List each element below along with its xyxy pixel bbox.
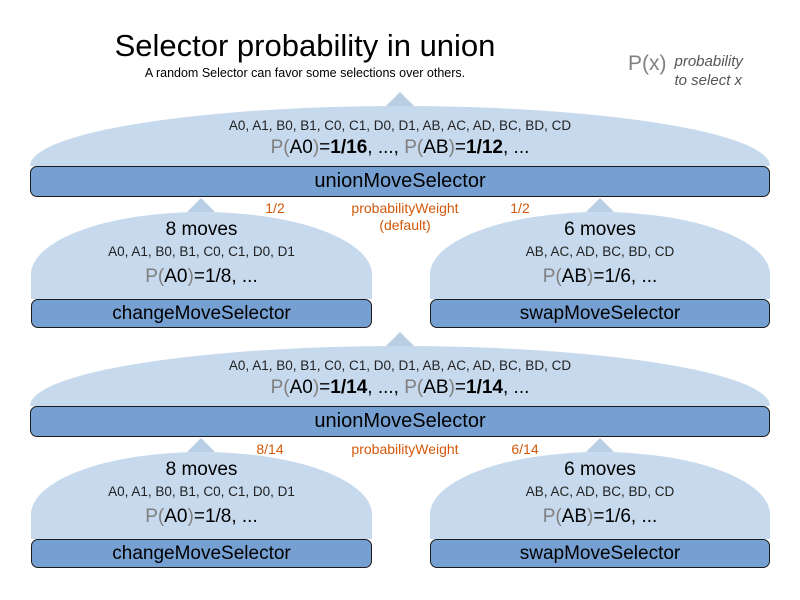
union-prob-sep-2: , ..., [367, 377, 404, 398]
swap-moves-count-2: 6 moves [430, 459, 770, 480]
change-moves-count-2: 8 moves [31, 459, 372, 480]
arrow-left-child-1 [187, 198, 215, 212]
legend-description-line1: probability [675, 52, 743, 71]
change-prob-value-2: 1/8, ... [205, 506, 258, 527]
legend-description-line2: to select x [675, 71, 743, 90]
prob-fn-open: P( [271, 377, 290, 398]
swap-prob-label-2: AB [562, 506, 587, 527]
change-probability-1: P(A0)=1/8, ... [31, 266, 372, 288]
swap-move-list-2: AB, AC, AD, BC, BD, CD [430, 484, 770, 500]
arrow-right-child-2 [586, 438, 614, 452]
swap-prob-label-1: AB [562, 266, 587, 287]
swap-move-list-1: AB, AC, AD, BC, BD, CD [430, 244, 770, 260]
header: Selector probability in union A random S… [0, 0, 800, 100]
union-prob-label-2b: AB [423, 377, 448, 398]
swap-selector-dome-2: 6 moves AB, AC, AD, BC, BD, CD P(AB)=1/6… [430, 452, 770, 539]
prob-fn-open: P( [543, 506, 562, 527]
arrow-right-child-1 [586, 198, 614, 212]
swap-moves-count-1: 6 moves [430, 219, 770, 240]
union-probability-2: P(A0)=1/14, ..., P(AB)=1/14, ... [30, 377, 770, 399]
swap-probability-1: P(AB)=1/6, ... [430, 266, 770, 288]
union-prob-eq-1a: = [319, 137, 330, 158]
legend: P(x) probability to select x [628, 52, 800, 90]
prob-fn-open: P( [145, 266, 164, 287]
page-subtitle: A random Selector can favor some selecti… [0, 66, 610, 81]
change-moves-count-1: 8 moves [31, 219, 372, 240]
prob-fn-open: P( [543, 266, 562, 287]
swap-prob-eq-1: = [593, 266, 604, 287]
union-move-list-2: A0, A1, B0, B1, C0, C1, D0, D1, AB, AC, … [30, 358, 770, 374]
swap-probability-2: P(AB)=1/6, ... [430, 506, 770, 528]
union-prob-value-1b: 1/12 [466, 137, 503, 158]
prob-fn-open: P( [404, 377, 423, 398]
union-prob-eq-1b: = [455, 137, 466, 158]
change-prob-eq-2: = [194, 506, 205, 527]
change-probability-2: P(A0)=1/8, ... [31, 506, 372, 528]
change-prob-label-1: A0 [164, 266, 187, 287]
change-prob-label-2: A0 [164, 506, 187, 527]
union-prob-suffix-1: , ... [503, 137, 529, 158]
union-prob-eq-2b: = [455, 377, 466, 398]
change-selector-dome-2: 8 moves A0, A1, B0, B1, C0, C1, D0, D1 P… [31, 452, 372, 539]
change-move-selector-bar-1[interactable]: changeMoveSelector [31, 299, 372, 328]
legend-symbol: P(x) [628, 52, 667, 75]
union-prob-suffix-2: , ... [503, 377, 529, 398]
swap-selector-dome-1: 6 moves AB, AC, AD, BC, BD, CD P(AB)=1/6… [430, 212, 770, 299]
prob-fn-open: P( [404, 137, 423, 158]
page-title: Selector probability in union [0, 28, 610, 64]
arrow-left-child-2 [187, 438, 215, 452]
union-dome-2: A0, A1, B0, B1, C0, C1, D0, D1, AB, AC, … [30, 346, 770, 406]
union-prob-value-2a: 1/14 [330, 377, 367, 398]
union-probability-1: P(A0)=1/16, ..., P(AB)=1/12, ... [30, 137, 770, 159]
union-move-list-1: A0, A1, B0, B1, C0, C1, D0, D1, AB, AC, … [30, 118, 770, 134]
union-prob-value-2b: 1/14 [466, 377, 503, 398]
change-selector-dome-1: 8 moves A0, A1, B0, B1, C0, C1, D0, D1 P… [31, 212, 372, 299]
legend-description: probability to select x [675, 52, 743, 90]
change-prob-value-1: 1/8, ... [205, 266, 258, 287]
swap-prob-eq-2: = [593, 506, 604, 527]
change-move-selector-bar-2[interactable]: changeMoveSelector [31, 539, 372, 568]
change-move-list-1: A0, A1, B0, B1, C0, C1, D0, D1 [31, 244, 372, 260]
union-prob-value-1a: 1/16 [330, 137, 367, 158]
union-prob-label-1a: A0 [290, 137, 313, 158]
swap-prob-value-1: 1/6, ... [604, 266, 657, 287]
swap-move-selector-bar-2[interactable]: swapMoveSelector [430, 539, 770, 568]
swap-move-selector-bar-1[interactable]: swapMoveSelector [430, 299, 770, 328]
union-prob-eq-2a: = [319, 377, 330, 398]
swap-prob-value-2: 1/6, ... [604, 506, 657, 527]
union-prob-sep-1: , ..., [367, 137, 404, 158]
union-move-selector-bar-1[interactable]: unionMoveSelector [30, 166, 770, 197]
prob-fn-open: P( [271, 137, 290, 158]
union-prob-label-2a: A0 [290, 377, 313, 398]
change-prob-eq-1: = [194, 266, 205, 287]
prob-fn-open: P( [145, 506, 164, 527]
union-prob-label-1b: AB [423, 137, 448, 158]
change-move-list-2: A0, A1, B0, B1, C0, C1, D0, D1 [31, 484, 372, 500]
union-move-selector-bar-2[interactable]: unionMoveSelector [30, 406, 770, 437]
union-dome-1: A0, A1, B0, B1, C0, C1, D0, D1, AB, AC, … [30, 106, 770, 166]
